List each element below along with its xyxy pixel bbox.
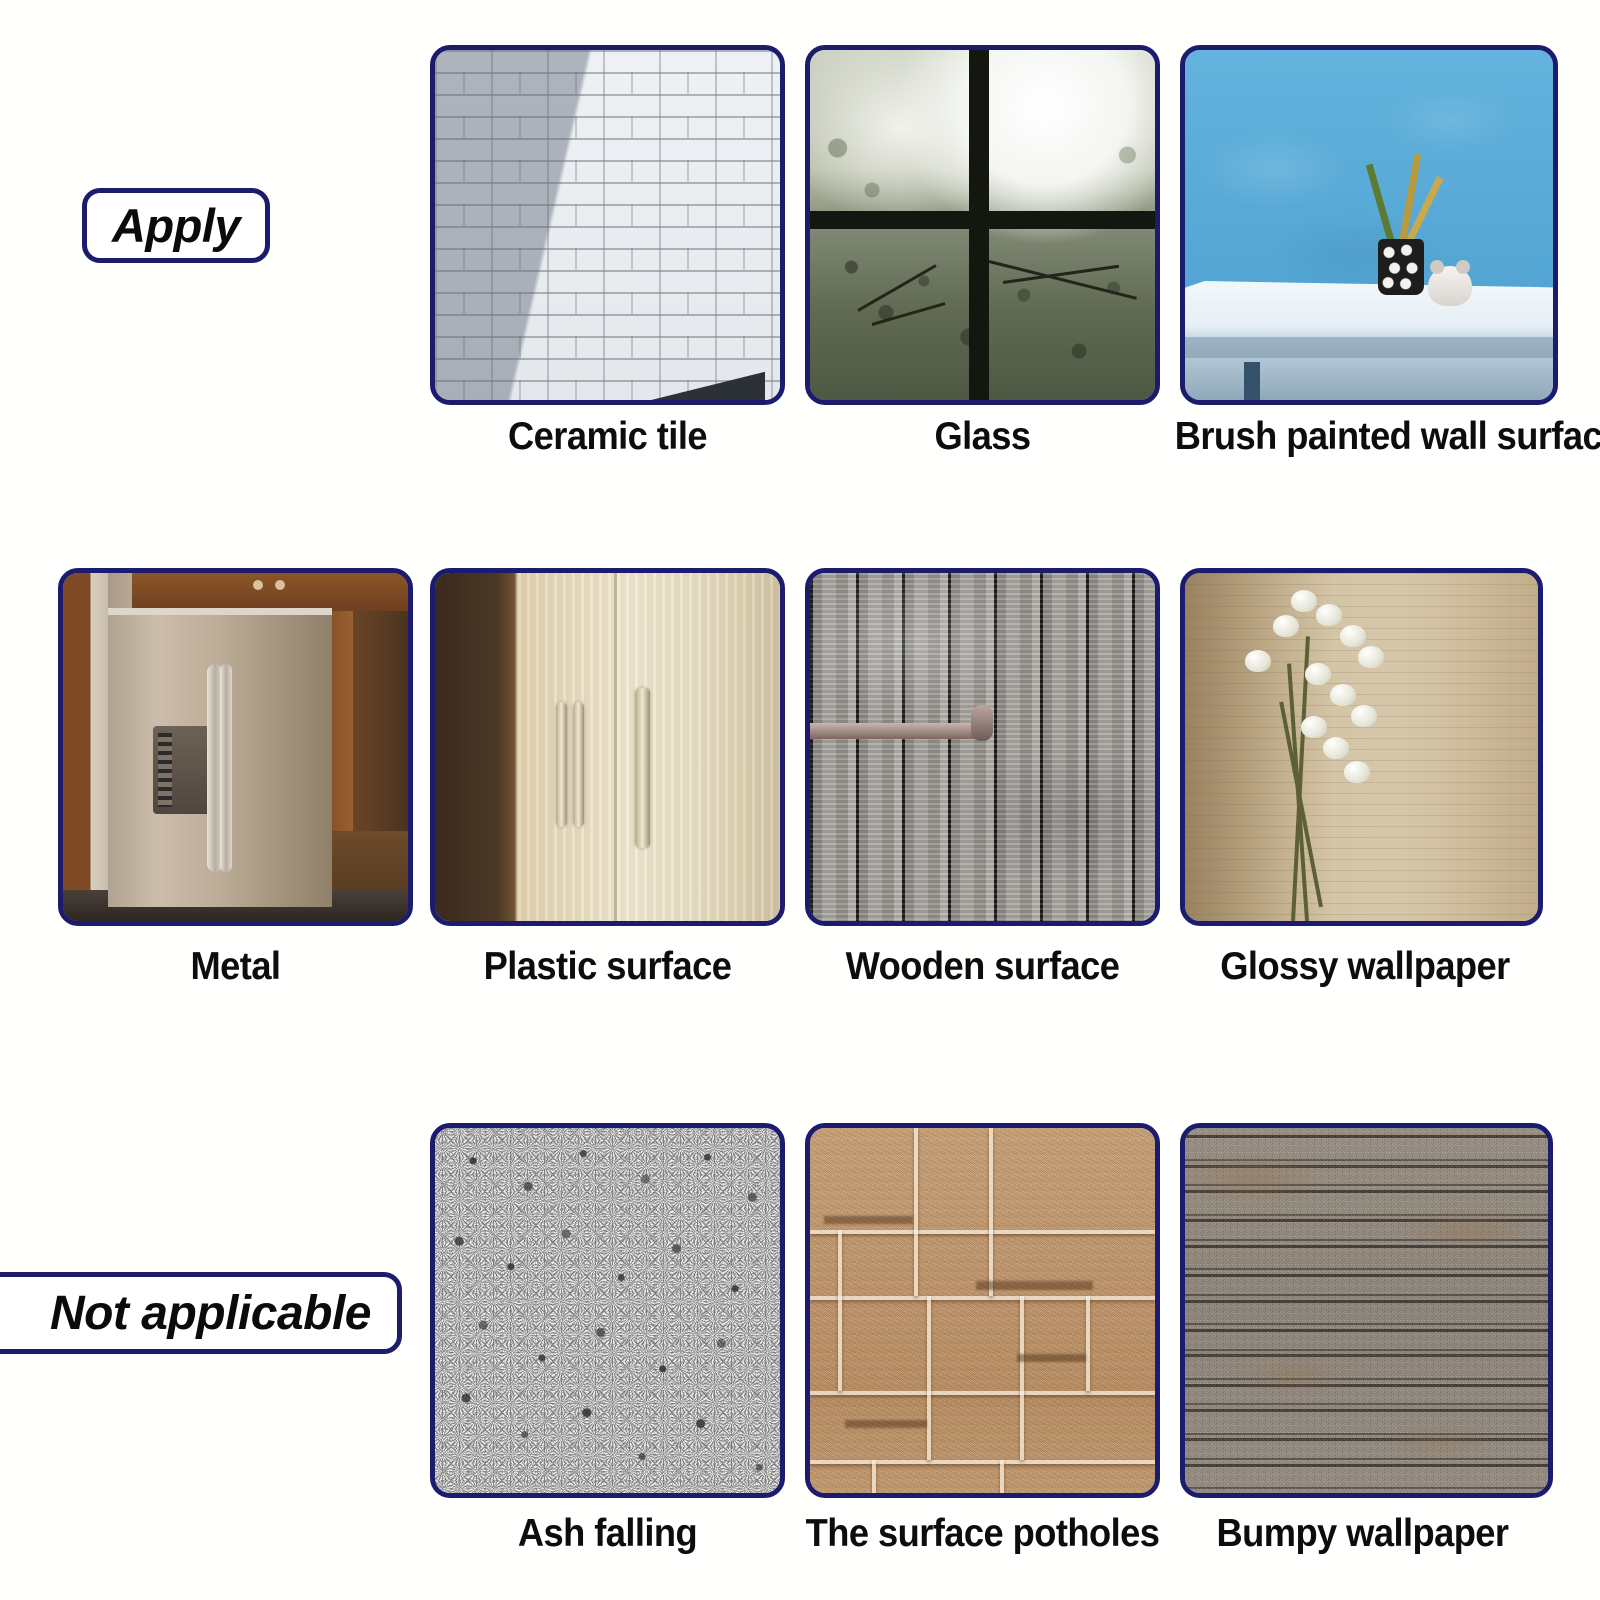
lily-bell-10 xyxy=(1301,716,1327,738)
stone-joint-v3 xyxy=(838,1230,842,1391)
wardrobe-handle-2 xyxy=(573,702,584,827)
stone-joint-v2 xyxy=(989,1128,993,1296)
stone-chip-shadow-4 xyxy=(845,1420,928,1428)
ceramic-tile-image xyxy=(435,50,780,400)
window-mullion-horizontal xyxy=(810,211,1155,229)
tile-surface-potholes xyxy=(805,1123,1160,1498)
stone-joint-h2 xyxy=(810,1296,1155,1300)
not-applicable-section-label: Not applicable xyxy=(0,1272,402,1354)
tile-plastic-surface xyxy=(430,568,785,926)
stone-joint-v7 xyxy=(872,1460,876,1493)
lily-bell-7 xyxy=(1305,663,1331,685)
apply-section-label: Apply xyxy=(82,188,270,263)
door-lever-handle xyxy=(810,723,989,739)
stone-joint-v5 xyxy=(1020,1296,1024,1460)
table-leg xyxy=(1244,362,1260,401)
stone-joint-v4 xyxy=(927,1296,931,1460)
tile-wooden-surface xyxy=(805,568,1160,926)
caption-brush-painted-wall: Brush painted wall surface xyxy=(1175,415,1566,459)
upper-cabinet xyxy=(132,573,408,611)
lily-bell-9 xyxy=(1351,705,1377,727)
brick-shadow-overlay xyxy=(435,50,780,400)
plastic-wardrobe-image xyxy=(435,573,780,921)
stone-joint-h3 xyxy=(810,1391,1155,1395)
caption-plastic-surface: Plastic surface xyxy=(442,945,772,989)
metal-refrigerator-image xyxy=(63,573,408,921)
caption-bumpy-wallpaper: Bumpy wallpaper xyxy=(1183,1512,1541,1556)
tile-metal xyxy=(58,568,413,926)
stone-joint-v8 xyxy=(1000,1460,1004,1493)
stone-chip-shadow-1 xyxy=(824,1216,914,1224)
stone-joint-h1 xyxy=(810,1230,1155,1234)
ceramic-figurine xyxy=(1428,266,1472,306)
stone-roughness xyxy=(810,1128,1155,1493)
stone-chip-shadow-2 xyxy=(976,1281,1093,1290)
stone-joint-v6 xyxy=(1086,1296,1090,1391)
lily-bell-1 xyxy=(1245,650,1271,672)
door-seam xyxy=(614,573,617,921)
lily-bell-3 xyxy=(1291,590,1317,612)
caption-ceramic-tile: Ceramic tile xyxy=(442,415,772,459)
lily-bell-2 xyxy=(1273,615,1299,637)
tile-glossy-wallpaper xyxy=(1180,568,1543,926)
wooden-planks-image xyxy=(810,573,1155,921)
bumpy-wallpaper-image xyxy=(1185,1128,1548,1493)
stone-joint-h4 xyxy=(810,1460,1155,1464)
tile-ash-falling xyxy=(430,1123,785,1498)
stone-joint-v1 xyxy=(914,1128,918,1296)
surface-compatibility-infographic: Apply Ceramic tile Glass xyxy=(0,0,1600,1600)
wardrobe-handle-1 xyxy=(556,702,567,827)
lily-bell-12 xyxy=(1344,761,1370,783)
caption-glass: Glass xyxy=(817,415,1147,459)
tile-bumpy-wallpaper xyxy=(1180,1123,1553,1498)
polka-dot-vase xyxy=(1378,239,1424,295)
tile-glass xyxy=(805,45,1160,405)
wardrobe-handle-3 xyxy=(635,688,650,848)
caption-surface-potholes: The surface potholes xyxy=(803,1512,1161,1556)
lily-bell-11 xyxy=(1323,737,1349,759)
ash-falling-image xyxy=(435,1128,780,1493)
caption-glossy-wallpaper: Glossy wallpaper xyxy=(1193,945,1537,989)
brush-painted-wall-image xyxy=(1185,50,1553,400)
lily-bell-8 xyxy=(1330,684,1356,706)
stone-chip-shadow-3 xyxy=(1017,1354,1086,1362)
speckle-layer-3 xyxy=(435,1128,780,1493)
tile-ceramic-tile xyxy=(430,45,785,405)
not-applicable-label-text: Not applicable xyxy=(50,1286,371,1341)
glass-window-image xyxy=(810,50,1155,400)
glossy-wallpaper-image xyxy=(1185,573,1538,921)
fridge-handle-right xyxy=(220,664,232,872)
table-edge xyxy=(1185,337,1553,358)
caption-wooden-surface: Wooden surface xyxy=(817,945,1147,989)
tile-brush-painted-wall xyxy=(1180,45,1558,405)
caption-metal: Metal xyxy=(70,945,400,989)
apply-label-text: Apply xyxy=(112,198,240,253)
surface-potholes-image xyxy=(810,1128,1155,1493)
lily-bell-4 xyxy=(1316,604,1342,626)
wallpaper-shading xyxy=(1185,573,1538,921)
refrigerator-body xyxy=(108,608,332,907)
caption-ash-falling: Ash falling xyxy=(442,1512,772,1556)
ledgestone-warm-tint xyxy=(1185,1128,1548,1493)
lily-bell-5 xyxy=(1340,625,1366,647)
weathering-overlay xyxy=(810,573,1155,921)
lily-bell-6 xyxy=(1358,646,1384,668)
